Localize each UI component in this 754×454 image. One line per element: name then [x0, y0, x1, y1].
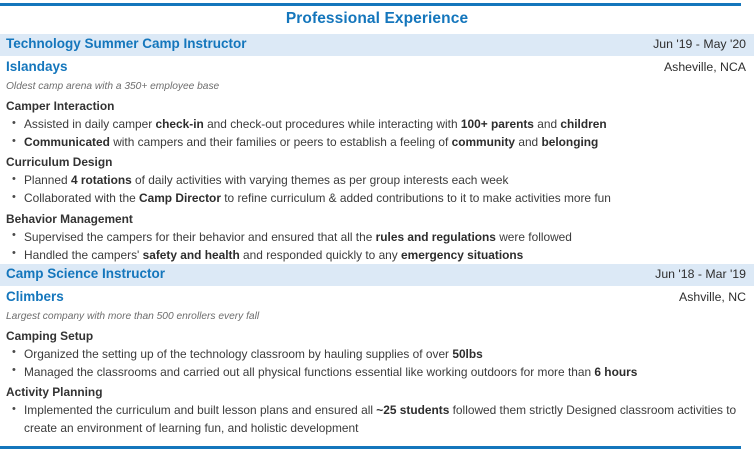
bullet-item: Supervised the campers for their behavio…	[6, 228, 746, 246]
job-subline-row: ClimbersAshville, NC	[0, 286, 754, 307]
responsibility-group-heading: Camping Setup	[0, 325, 754, 345]
bullet-list: Implemented the curriculum and built les…	[0, 401, 754, 437]
company-name: Climbers	[6, 289, 64, 306]
bullet-list: Planned 4 rotations of daily activities …	[0, 171, 754, 207]
bullet-item: Planned 4 rotations of daily activities …	[6, 171, 746, 189]
bullet-list: Assisted in daily camper check-in and ch…	[0, 115, 754, 151]
company-description: Largest company with more than 500 enrol…	[0, 307, 754, 325]
job-dates: Jun '19 - May '20	[653, 37, 746, 52]
job-subline-row: IslandaysAsheville, NCA	[0, 56, 754, 77]
bottom-divider-rule	[0, 446, 741, 449]
company-description: Oldest camp arena with a 350+ employee b…	[0, 77, 754, 95]
job-dates: Jun '18 - Mar '19	[655, 267, 746, 282]
job-headline-row: Technology Summer Camp InstructorJun '19…	[0, 34, 754, 56]
bullet-item: Managed the classrooms and carried out a…	[6, 363, 746, 381]
responsibility-group-heading: Curriculum Design	[0, 151, 754, 171]
bullet-list: Organized the setting up of the technolo…	[0, 345, 754, 381]
responsibility-group-heading: Camper Interaction	[0, 95, 754, 115]
job-entry: Technology Summer Camp InstructorJun '19…	[0, 34, 754, 264]
bullet-item: Organized the setting up of the technolo…	[6, 345, 746, 363]
job-location: Ashville, NC	[679, 290, 746, 305]
responsibility-group-heading: Behavior Management	[0, 208, 754, 228]
job-location: Asheville, NCA	[664, 60, 746, 75]
bullet-item: Implemented the curriculum and built les…	[6, 401, 746, 437]
job-list: Technology Summer Camp InstructorJun '19…	[0, 34, 754, 437]
bullet-item: Collaborated with the Camp Director to r…	[6, 189, 746, 207]
job-title: Technology Summer Camp Instructor	[6, 36, 247, 53]
resume-experience-page: Professional Experience Technology Summe…	[0, 0, 754, 454]
top-divider-rule	[0, 3, 741, 6]
job-title: Camp Science Instructor	[6, 266, 165, 283]
company-name: Islandays	[6, 59, 68, 76]
bullet-item: Handled the campers' safety and health a…	[6, 246, 746, 264]
responsibility-group-heading: Activity Planning	[0, 381, 754, 401]
bullet-list: Supervised the campers for their behavio…	[0, 228, 754, 264]
experience-content: Professional Experience Technology Summe…	[0, 8, 754, 437]
bullet-item: Assisted in daily camper check-in and ch…	[6, 115, 746, 133]
job-headline-row: Camp Science InstructorJun '18 - Mar '19	[0, 264, 754, 286]
bullet-item: Communicated with campers and their fami…	[6, 133, 746, 151]
job-entry: Camp Science InstructorJun '18 - Mar '19…	[0, 264, 754, 438]
page-title: Professional Experience	[0, 8, 754, 34]
